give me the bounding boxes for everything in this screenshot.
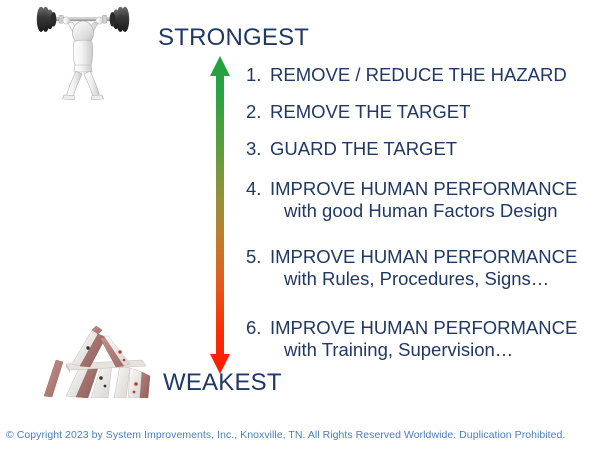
control-item-5-subtext: with Rules, Procedures, Signs…: [246, 268, 616, 290]
strongest-label: STRONGEST: [158, 26, 309, 50]
control-item-4-main: 4.IMPROVE HUMAN PERFORMANCE: [246, 178, 616, 200]
control-item-2: 2.REMOVE THE TARGET: [246, 101, 616, 123]
control-hierarchy-list: 1.REMOVE / REDUCE THE HAZARD 2.REMOVE TH…: [246, 64, 616, 360]
control-item-2-number: 2.: [246, 101, 270, 123]
weightlifter-illustration: [28, 4, 138, 103]
control-item-1-text: REMOVE / REDUCE THE HAZARD: [270, 64, 567, 85]
control-item-1-number: 1.: [246, 64, 270, 86]
slide-canvas: STRONGEST 1.REMOVE / REDUCE: [0, 0, 616, 452]
control-item-6-number: 6.: [246, 317, 270, 339]
control-item-5-number: 5.: [246, 246, 270, 268]
control-item-4: 4.IMPROVE HUMAN PERFORMANCE with good Hu…: [246, 178, 616, 222]
control-item-1-main: 1.REMOVE / REDUCE THE HAZARD: [246, 64, 616, 86]
footer-copyright: © Copyright 2023 by System Improvements,…: [6, 429, 565, 441]
control-item-2-main: 2.REMOVE THE TARGET: [246, 101, 616, 123]
control-item-6-main: 6.IMPROVE HUMAN PERFORMANCE: [246, 317, 616, 339]
strength-gradient-arrow: [203, 54, 237, 376]
house-of-cards-illustration: [36, 316, 164, 398]
weakest-label: WEAKEST: [163, 371, 282, 395]
control-item-5-text: IMPROVE HUMAN PERFORMANCE: [270, 246, 577, 267]
control-item-3-main: 3.GUARD THE TARGET: [246, 138, 616, 160]
control-item-4-number: 4.: [246, 178, 270, 200]
control-item-5-main: 5.IMPROVE HUMAN PERFORMANCE: [246, 246, 616, 268]
control-item-3-number: 3.: [246, 138, 270, 160]
control-item-5: 5.IMPROVE HUMAN PERFORMANCE with Rules, …: [246, 246, 616, 290]
control-item-6-subtext: with Training, Supervision…: [246, 339, 616, 361]
control-item-4-subtext: with good Human Factors Design: [246, 200, 616, 222]
control-item-3-text: GUARD THE TARGET: [270, 138, 457, 159]
control-item-4-text: IMPROVE HUMAN PERFORMANCE: [270, 178, 577, 199]
control-item-1: 1.REMOVE / REDUCE THE HAZARD: [246, 64, 616, 86]
control-item-6-text: IMPROVE HUMAN PERFORMANCE: [270, 317, 577, 338]
control-item-2-text: REMOVE THE TARGET: [270, 101, 470, 122]
control-item-6: 6.IMPROVE HUMAN PERFORMANCE with Trainin…: [246, 317, 616, 361]
control-item-3: 3.GUARD THE TARGET: [246, 138, 616, 160]
